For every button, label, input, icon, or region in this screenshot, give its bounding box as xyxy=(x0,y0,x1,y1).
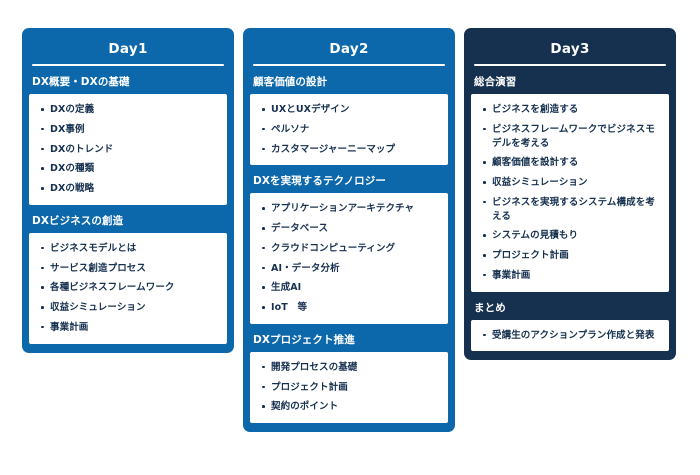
day-title: Day1 xyxy=(29,36,227,64)
section-body: アプリケーションアーキテクチャデータベースクラウドコンピューティングAI・データ… xyxy=(250,193,448,324)
list-item: 収益シミュレーション xyxy=(35,301,219,315)
list-item: プロジェクト計画 xyxy=(256,381,440,395)
list-item: ビジネスを実現するシステム構成を考える xyxy=(477,196,661,224)
day-column-day3: Day3総合演習ビジネスを創造するビジネスフレームワークでビジネスモデルを考える… xyxy=(464,28,676,360)
list-item: DXの定義 xyxy=(35,103,219,117)
section-title: DXプロジェクト推進 xyxy=(250,331,448,352)
section-title: DXを実現するテクノロジー xyxy=(250,172,448,193)
list-item: 受講生のアクションプラン作成と発表 xyxy=(477,329,661,343)
curriculum-board: Day1DX概要・DXの基礎DXの定義DX事例DXのトレンドDXの種類DXの戦略… xyxy=(0,0,700,475)
topic-list: ビジネスを創造するビジネスフレームワークでビジネスモデルを考える顧客価値を設計す… xyxy=(477,103,661,283)
section-body: 開発プロセスの基礎プロジェクト計画契約のポイント xyxy=(250,352,448,423)
list-item: システムの見積もり xyxy=(477,229,661,243)
list-item: ビジネスモデルとは xyxy=(35,242,219,256)
topic-list: アプリケーションアーキテクチャデータベースクラウドコンピューティングAI・データ… xyxy=(256,202,440,315)
section: DXプロジェクト推進開発プロセスの基礎プロジェクト計画契約のポイント xyxy=(250,331,448,423)
list-item: IoT 等 xyxy=(256,301,440,315)
list-item: 顧客価値を設計する xyxy=(477,156,661,170)
list-item: データベース xyxy=(256,222,440,236)
list-item: 事業計画 xyxy=(35,321,219,335)
list-item: ビジネスフレームワークでビジネスモデルを考える xyxy=(477,123,661,151)
list-item: 契約のポイント xyxy=(256,400,440,414)
list-item: 収益シミュレーション xyxy=(477,176,661,190)
section-body: ビジネスを創造するビジネスフレームワークでビジネスモデルを考える顧客価値を設計す… xyxy=(471,94,669,292)
day-column-day1: Day1DX概要・DXの基礎DXの定義DX事例DXのトレンドDXの種類DXの戦略… xyxy=(22,28,234,353)
section-title: DXビジネスの創造 xyxy=(29,212,227,233)
list-item: プロジェクト計画 xyxy=(477,249,661,263)
day-title-divider xyxy=(474,64,666,66)
section: まとめ受講生のアクションプラン作成と発表 xyxy=(471,299,669,352)
section: DX概要・DXの基礎DXの定義DX事例DXのトレンドDXの種類DXの戦略 xyxy=(29,73,227,205)
section-body: 受講生のアクションプラン作成と発表 xyxy=(471,320,669,352)
list-item: UXとUXデザイン xyxy=(256,103,440,117)
section-body: DXの定義DX事例DXのトレンドDXの種類DXの戦略 xyxy=(29,94,227,205)
topic-list: DXの定義DX事例DXのトレンドDXの種類DXの戦略 xyxy=(35,103,219,196)
list-item: 事業計画 xyxy=(477,269,661,283)
section: 総合演習ビジネスを創造するビジネスフレームワークでビジネスモデルを考える顧客価値… xyxy=(471,73,669,292)
list-item: DXのトレンド xyxy=(35,143,219,157)
topic-list: UXとUXデザインペルソナカスタマージャーニーマップ xyxy=(256,103,440,156)
list-item: DX事例 xyxy=(35,123,219,137)
list-item: 開発プロセスの基礎 xyxy=(256,361,440,375)
topic-list: ビジネスモデルとはサービス創造プロセス各種ビジネスフレームワーク収益シミュレーシ… xyxy=(35,242,219,335)
list-item: カスタマージャーニーマップ xyxy=(256,143,440,157)
section: DXを実現するテクノロジーアプリケーションアーキテクチャデータベースクラウドコン… xyxy=(250,172,448,324)
section: DXビジネスの創造ビジネスモデルとはサービス創造プロセス各種ビジネスフレームワー… xyxy=(29,212,227,344)
list-item: サービス創造プロセス xyxy=(35,262,219,276)
list-item: ビジネスを創造する xyxy=(477,103,661,117)
list-item: 各種ビジネスフレームワーク xyxy=(35,281,219,295)
list-item: ペルソナ xyxy=(256,123,440,137)
day-column-day2: Day2顧客価値の設計UXとUXデザインペルソナカスタマージャーニーマップDXを… xyxy=(243,28,455,432)
topic-list: 受講生のアクションプラン作成と発表 xyxy=(477,329,661,343)
list-item: アプリケーションアーキテクチャ xyxy=(256,202,440,216)
section-body: UXとUXデザインペルソナカスタマージャーニーマップ xyxy=(250,94,448,165)
day-title: Day3 xyxy=(471,36,669,64)
day-title-divider xyxy=(253,64,445,66)
section-title: まとめ xyxy=(471,299,669,320)
list-item: クラウドコンピューティング xyxy=(256,242,440,256)
topic-list: 開発プロセスの基礎プロジェクト計画契約のポイント xyxy=(256,361,440,414)
day-title: Day2 xyxy=(250,36,448,64)
list-item: AI・データ分析 xyxy=(256,262,440,276)
section-body: ビジネスモデルとはサービス創造プロセス各種ビジネスフレームワーク収益シミュレーシ… xyxy=(29,233,227,344)
list-item: DXの種類 xyxy=(35,162,219,176)
section: 顧客価値の設計UXとUXデザインペルソナカスタマージャーニーマップ xyxy=(250,73,448,165)
section-title: DX概要・DXの基礎 xyxy=(29,73,227,94)
section-title: 顧客価値の設計 xyxy=(250,73,448,94)
section-title: 総合演習 xyxy=(471,73,669,94)
list-item: DXの戦略 xyxy=(35,182,219,196)
day-title-divider xyxy=(32,64,224,66)
list-item: 生成AI xyxy=(256,281,440,295)
